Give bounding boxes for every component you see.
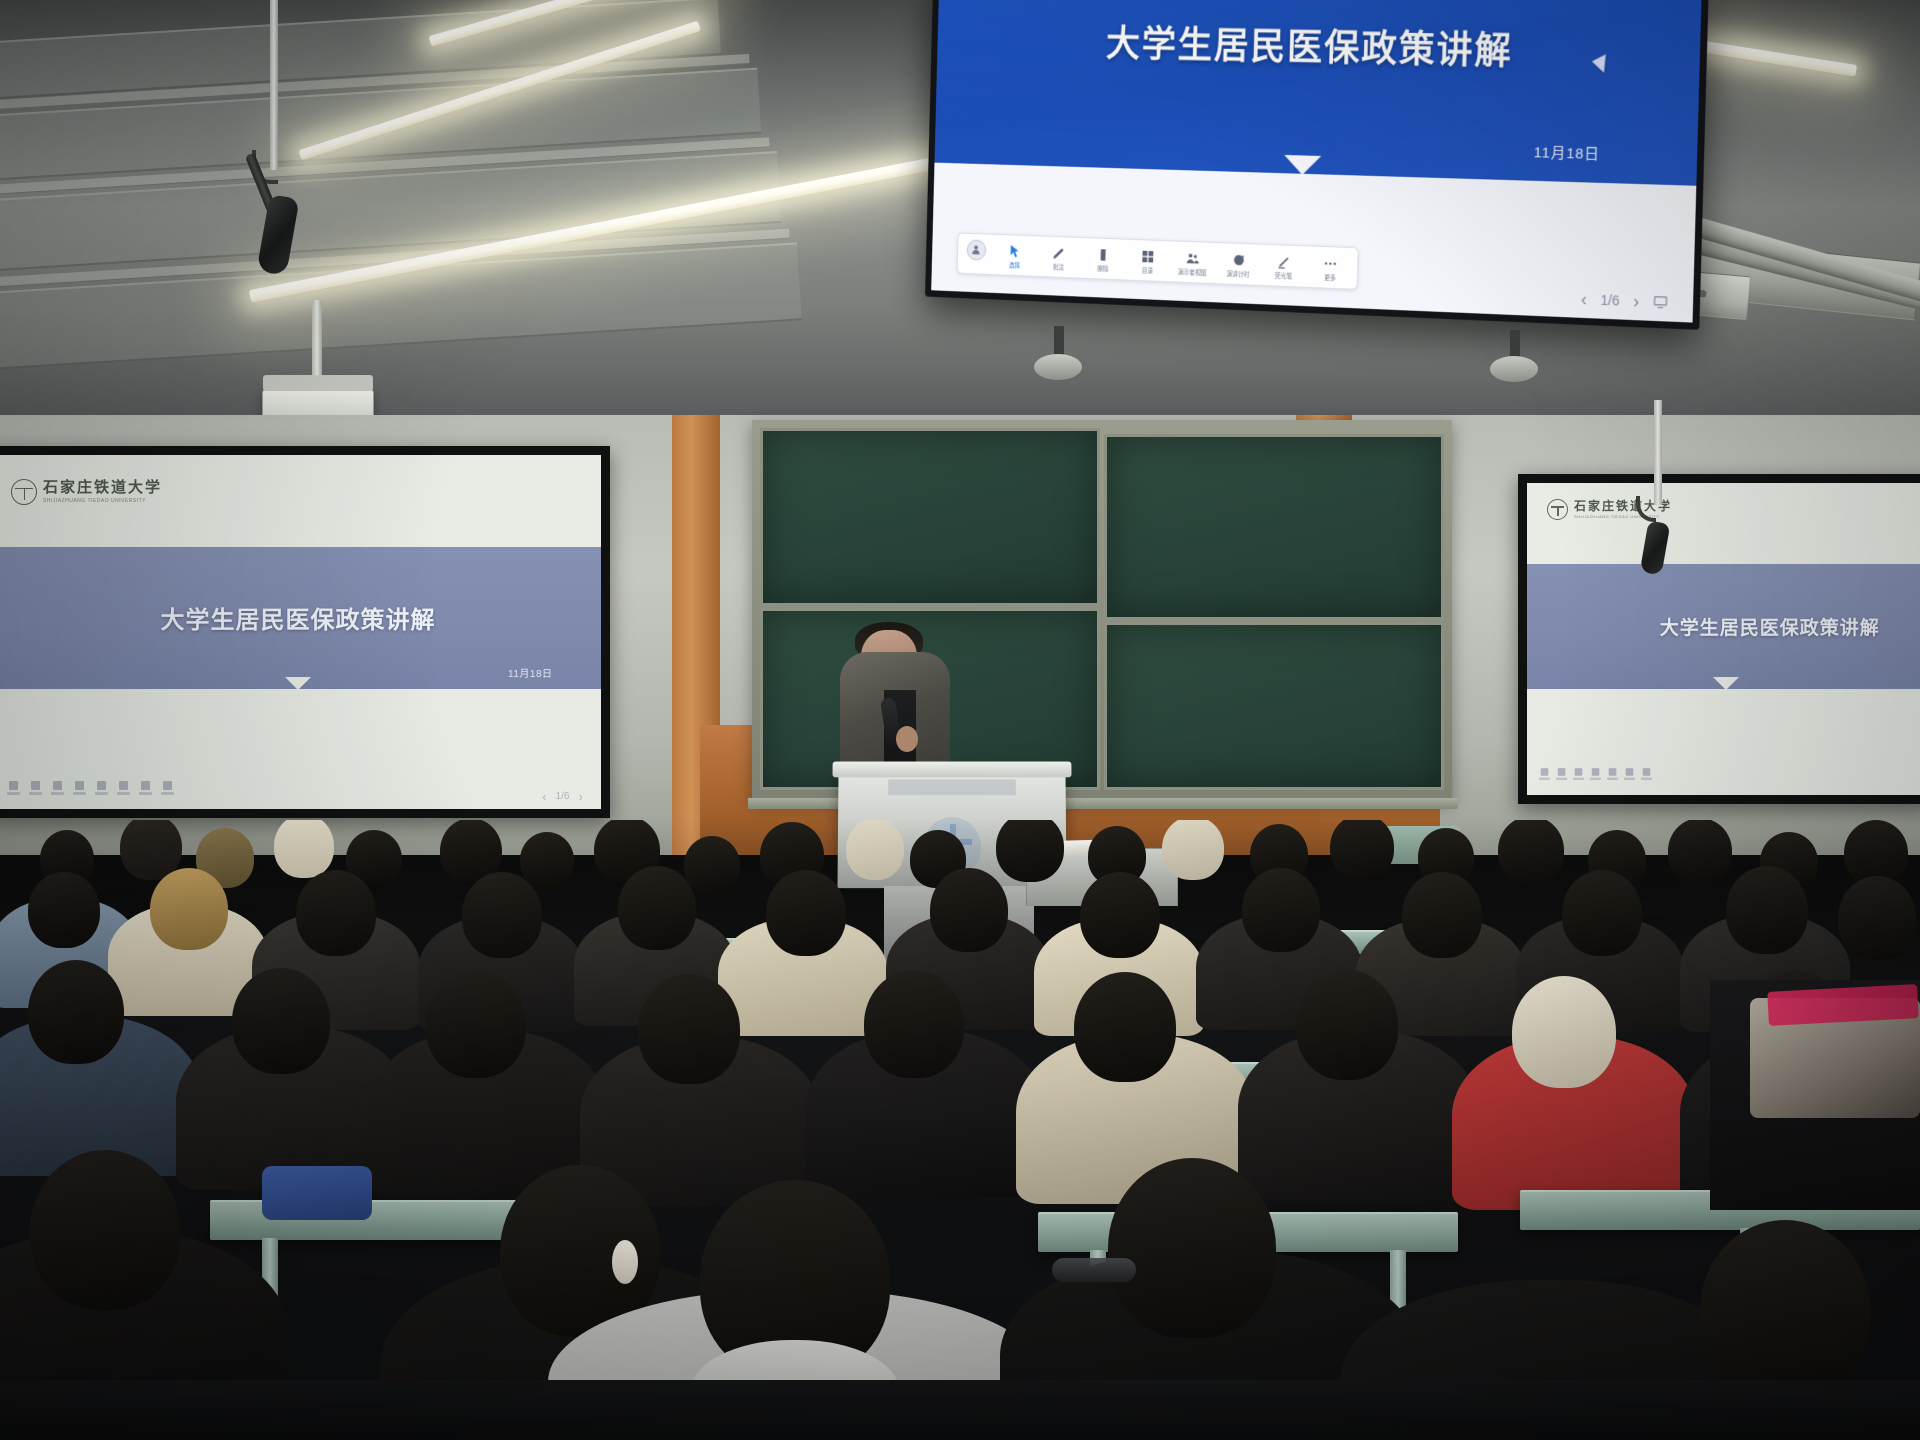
- toolbar-label: 目录: [1142, 266, 1154, 275]
- toolbar-item-presenter-view[interactable]: 演示者视图: [1177, 250, 1208, 278]
- foreground-audience-head: [30, 1150, 180, 1310]
- audience-head: [28, 960, 124, 1064]
- toolbar-label: 荧光笔: [1275, 271, 1293, 280]
- audience-head: [1838, 876, 1916, 960]
- toolbar-item-pen[interactable]: 批注: [1043, 245, 1074, 273]
- audience-head: [462, 872, 542, 958]
- left-projection-screen: 石家庄铁道大学 SHIJIAZHUANG TIEDAO UNIVERSITY 大…: [0, 446, 610, 818]
- audience-area: [0, 820, 1920, 1440]
- next-page-button[interactable]: ›: [578, 789, 582, 804]
- toolbar-item[interactable]: [139, 781, 152, 795]
- cursor-select-icon: [1007, 244, 1021, 260]
- presentation-toolbar[interactable]: 选择 批注 擦除 目录: [957, 232, 1359, 289]
- right-slide-title: 大学生居民医保政策讲解: [1660, 613, 1880, 640]
- ceiling-fan: [1490, 356, 1538, 382]
- podium-top: [832, 762, 1071, 778]
- toolbar-item-highlighter[interactable]: 荧光笔: [1268, 253, 1300, 281]
- university-emblem-icon: [11, 479, 37, 505]
- audience-head: [274, 820, 334, 878]
- comment-icon: [1231, 252, 1246, 268]
- more-icon: [1323, 255, 1338, 271]
- left-slide: 石家庄铁道大学 SHIJIAZHUANG TIEDAO UNIVERSITY 大…: [0, 455, 601, 809]
- audience-head: [846, 820, 904, 880]
- audience-head: [1330, 820, 1394, 880]
- user-avatar-icon[interactable]: [966, 239, 986, 260]
- wall-mounted-display: 大学生居民医保政策讲解 11月18日 选择 批注: [925, 0, 1709, 330]
- left-slide-date: 11月18日: [508, 665, 553, 680]
- toolbar-label: 更多: [1324, 273, 1336, 282]
- toolbar-item-timer[interactable]: 演讲计时: [1222, 252, 1254, 280]
- page-indicator: 1/6: [1600, 292, 1619, 309]
- toolbar-label: 选择: [1009, 261, 1020, 270]
- tv-slide-date: 11月18日: [1534, 142, 1601, 165]
- eraser-icon: [1096, 247, 1111, 263]
- tv-slide: 大学生居民医保政策讲解 11月18日 选择 批注: [931, 0, 1701, 323]
- ceiling-fan: [1034, 354, 1082, 380]
- toolbar-item-select[interactable]: 选择: [999, 243, 1029, 270]
- prev-page-button[interactable]: ‹: [542, 789, 546, 804]
- right-slide-toolbar[interactable]: [1539, 768, 1652, 780]
- toolbar-item[interactable]: [7, 781, 20, 795]
- audience-head: [618, 866, 696, 950]
- highlighter-icon: [1276, 254, 1291, 270]
- university-logo: 石家庄铁道大学 SHIJIAZHUANG TIEDAO UNIVERSITY: [11, 479, 162, 505]
- earbud: [612, 1240, 638, 1284]
- university-name: 石家庄铁道大学: [43, 481, 162, 496]
- toolbar-item[interactable]: [51, 781, 64, 795]
- slide-notch: [1284, 155, 1321, 175]
- audience-head: [930, 868, 1008, 952]
- audience-head: [1242, 868, 1320, 952]
- toolbar-item[interactable]: [1624, 768, 1635, 780]
- backpack: [262, 1166, 372, 1220]
- audience-head: [426, 970, 526, 1078]
- toolbar-item-catalog[interactable]: 目录: [1132, 248, 1163, 276]
- university-subtitle: SHIJIAZHUANG TIEDAO UNIVERSITY: [1574, 514, 1672, 519]
- audience-head: [864, 970, 964, 1078]
- toolbar-label: 擦除: [1097, 264, 1108, 273]
- left-slide-title: 大学生居民医保政策讲解: [161, 600, 436, 635]
- toolbar-label: 演讲计时: [1226, 270, 1249, 280]
- toolbar-label: 批注: [1053, 263, 1064, 272]
- audience-head: [1498, 820, 1564, 884]
- toolbar-item[interactable]: [161, 781, 174, 795]
- toolbar-item[interactable]: [1641, 768, 1652, 780]
- audience-head: [1074, 972, 1176, 1082]
- chalkboard-panel: [760, 428, 1100, 606]
- tv-slide-title: 大学生居民医保政策讲解: [937, 11, 1701, 78]
- toolbar-label: 演示者视图: [1178, 268, 1207, 278]
- foreground-audience-head: [1700, 1220, 1870, 1400]
- university-emblem-icon: [1547, 499, 1568, 520]
- cast-screen-icon[interactable]: [1653, 294, 1669, 311]
- audience-head: [1296, 970, 1398, 1080]
- microphone-stem: [270, 0, 278, 170]
- audience-head: [684, 836, 740, 894]
- toolbar-item[interactable]: [1590, 768, 1601, 780]
- toolbar-item[interactable]: [95, 781, 108, 795]
- prev-page-button[interactable]: ‹: [1581, 289, 1587, 310]
- right-slide: 石家庄铁道大学 SHIJIAZHUANG TIEDAO UNIVERSITY 大…: [1527, 483, 1920, 795]
- podium-nameplate: [888, 780, 1015, 796]
- microphone-stem: [1654, 400, 1662, 505]
- toolbar-item[interactable]: [117, 781, 130, 795]
- audience-head: [296, 870, 376, 956]
- audience-head: [996, 820, 1064, 882]
- foreground-audience-head: [1108, 1158, 1276, 1338]
- toolbar-item[interactable]: [29, 781, 42, 795]
- presenter-hand: [896, 726, 918, 752]
- toolbar-item[interactable]: [1539, 768, 1550, 780]
- grid-icon: [1140, 249, 1155, 265]
- lecture-hall-photo: 石家庄铁道大学 SHIJIAZHUANG TIEDAO UNIVERSITY 大…: [0, 0, 1920, 1440]
- audience-head: [28, 872, 100, 948]
- chalkboard-panel: [1104, 434, 1444, 620]
- next-page-button[interactable]: ›: [1633, 291, 1639, 312]
- audience-head: [766, 870, 846, 956]
- audience-head: [1402, 872, 1482, 958]
- chalkboard-panel: [1104, 622, 1444, 790]
- toolbar-item[interactable]: [1556, 768, 1567, 780]
- people-icon: [1185, 250, 1200, 266]
- audience-head: [232, 968, 330, 1074]
- left-slide-toolbar[interactable]: [7, 781, 174, 795]
- floor: [0, 1380, 1920, 1440]
- toolbar-item[interactable]: [1607, 768, 1618, 780]
- toolbar-item-more[interactable]: 更多: [1314, 255, 1346, 283]
- audience-head: [1080, 872, 1160, 958]
- left-slide-pager[interactable]: ‹ 1/6 ›: [542, 789, 583, 804]
- toolbar-item[interactable]: [1573, 768, 1584, 780]
- audience-head: [1562, 870, 1642, 956]
- right-projection-screen: 石家庄铁道大学 SHIJIAZHUANG TIEDAO UNIVERSITY 大…: [1518, 474, 1920, 804]
- audience-head: [1668, 820, 1732, 884]
- eyeglasses-icon: [1052, 1258, 1136, 1282]
- page-indicator: 1/6: [556, 791, 570, 802]
- audience-head: [1726, 866, 1808, 954]
- tv-pager[interactable]: ‹ 1/6 ›: [1581, 289, 1669, 313]
- university-subtitle: SHIJIAZHUANG TIEDAO UNIVERSITY: [43, 498, 162, 504]
- pen-icon: [1051, 245, 1066, 261]
- audience-head: [150, 868, 228, 950]
- toolbar-item[interactable]: [73, 781, 86, 795]
- toolbar-item-eraser[interactable]: 擦除: [1087, 247, 1118, 275]
- audience-head: [520, 832, 574, 888]
- audience-head: [638, 974, 740, 1084]
- audience-head: [1162, 820, 1224, 880]
- audience-head: [1512, 976, 1616, 1088]
